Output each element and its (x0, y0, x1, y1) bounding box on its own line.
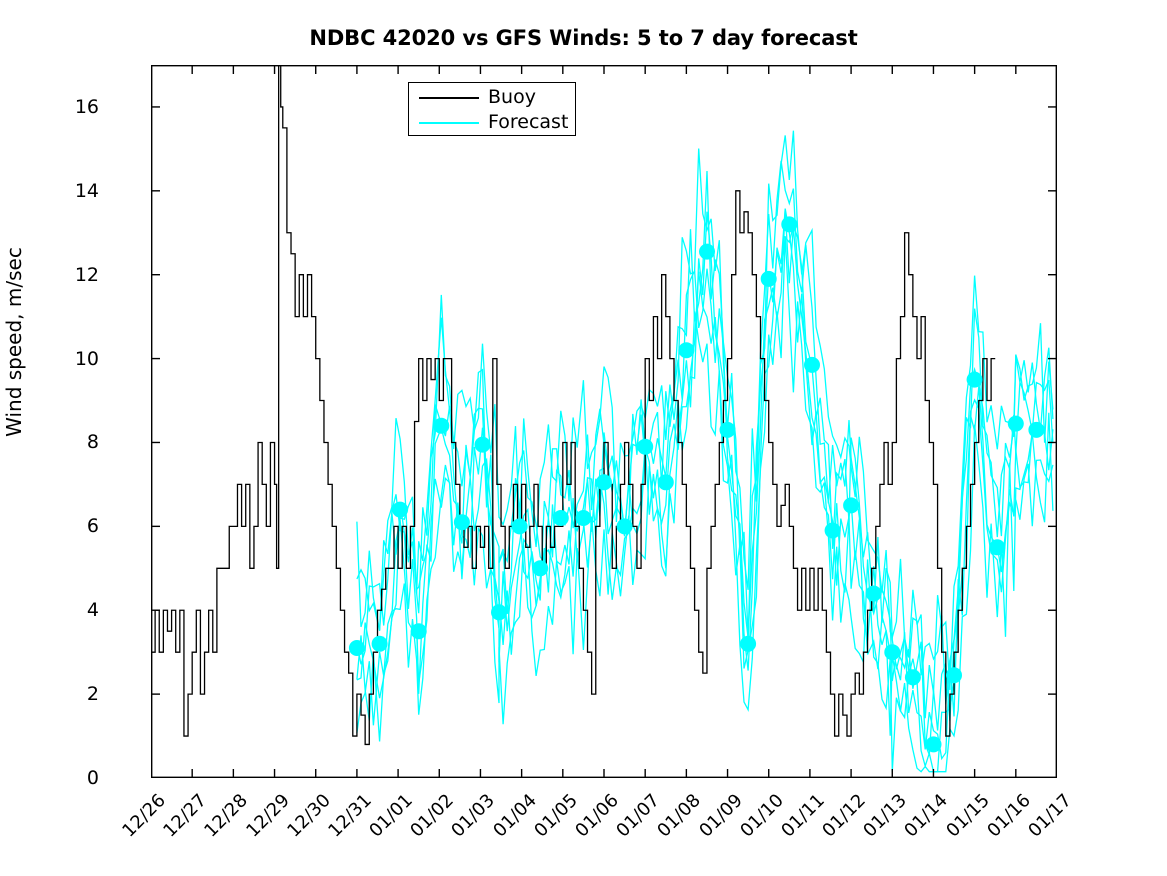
forecast-marker-dot (596, 474, 612, 490)
legend-item-buoy: Buoy (409, 84, 575, 111)
chart-title: NDBC 42020 vs GFS Winds: 5 to 7 day fore… (0, 26, 1167, 50)
forecast-marker-dot (411, 623, 427, 639)
forecast-marker-dot (866, 586, 882, 602)
forecast-marker-dot (967, 372, 983, 388)
forecast-marker-dot (1028, 422, 1044, 438)
forecast-marker-dot (720, 422, 736, 438)
chart-legend: Buoy Forecast (408, 82, 576, 136)
forecast-marker-dot (658, 474, 674, 490)
forecast-marker-dot (512, 518, 528, 534)
legend-item-forecast: Forecast (409, 109, 575, 136)
y-tick-label: 0 (39, 767, 99, 789)
forecast-marker-dot (491, 604, 507, 620)
forecast-marker-dot (825, 523, 841, 539)
forecast-marker-dot (1008, 416, 1024, 432)
forecast-marker-dot (637, 439, 653, 455)
y-axis-label: Wind speed, m/sec (2, 42, 26, 642)
y-tick-label: 8 (39, 431, 99, 453)
forecast-marker-dot (678, 342, 694, 358)
forecast-marker-dot (740, 636, 756, 652)
forecast-marker-dot (475, 437, 491, 453)
plot-area: Buoy Forecast (151, 65, 1057, 778)
forecast-marker-dot (553, 510, 569, 526)
forecast-marker-dot (532, 560, 548, 576)
legend-swatch-forecast (419, 122, 479, 124)
forecast-marker-dot (843, 497, 859, 513)
y-tick-label: 14 (39, 180, 99, 202)
forecast-marker-dot (617, 518, 633, 534)
y-tick-label: 16 (39, 96, 99, 118)
forecast-marker-dot (804, 357, 820, 373)
forecast-marker-dot (575, 510, 591, 526)
forecast-marker-dot (884, 644, 900, 660)
chart-figure: NDBC 42020 vs GFS Winds: 5 to 7 day fore… (0, 0, 1167, 875)
y-tick-label: 12 (39, 264, 99, 286)
y-tick-label: 2 (39, 683, 99, 705)
forecast-marker-dot (761, 271, 777, 287)
legend-label-forecast: Forecast (488, 113, 568, 132)
y-tick-label: 10 (39, 348, 99, 370)
forecast-marker-dot (372, 636, 388, 652)
forecast-marker-dot (433, 418, 449, 434)
forecast-marker-dot (926, 736, 942, 752)
legend-swatch-buoy (419, 97, 479, 99)
forecast-marker-dot (989, 539, 1005, 555)
forecast-marker-dot (699, 244, 715, 260)
forecast-marker-dot (781, 216, 797, 232)
forecast-marker-dot (946, 667, 962, 683)
y-tick-label: 6 (39, 515, 99, 537)
plot-svg (151, 65, 1057, 778)
forecast-marker-dot (392, 502, 408, 518)
forecast-marker-dot (349, 640, 365, 656)
forecast-marker-dot (454, 514, 470, 530)
legend-label-buoy: Buoy (488, 88, 536, 107)
y-tick-label: 4 (39, 599, 99, 621)
forecast-marker-dot (905, 669, 921, 685)
